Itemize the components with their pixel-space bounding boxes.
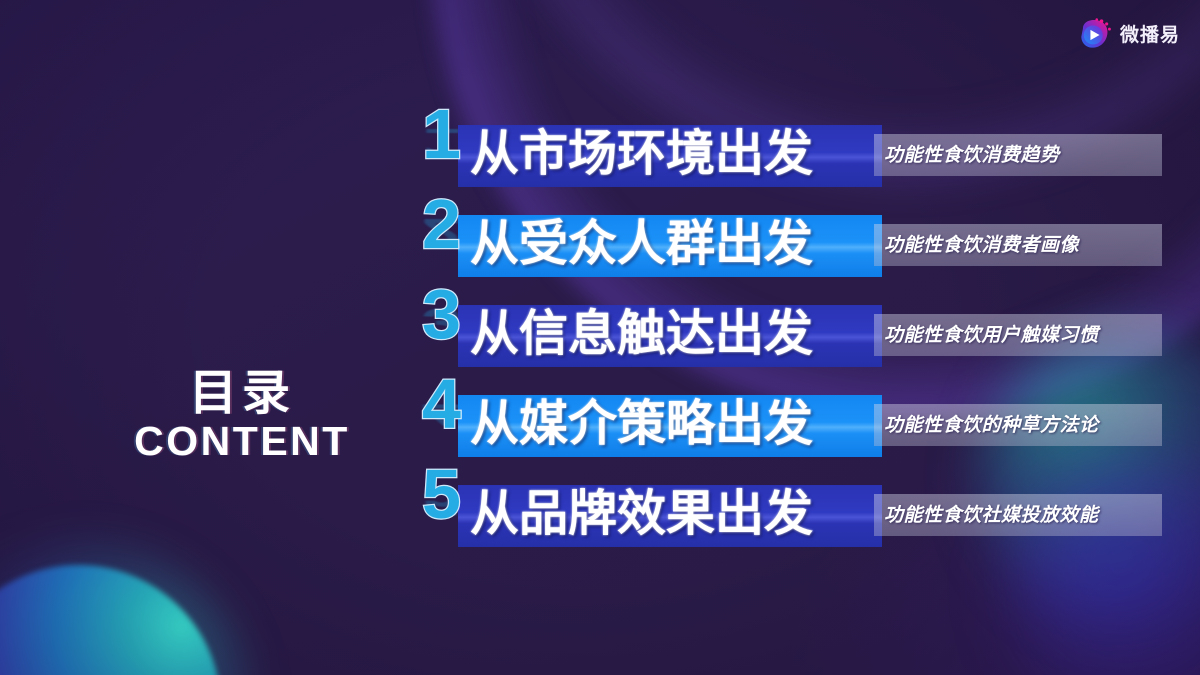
brand-logo: 微播易: [1075, 16, 1180, 54]
list-item[interactable]: 3 3 从信息触达出发 功能性食饮用户触媒习惯: [422, 283, 1162, 373]
item-subtitle: 功能性食饮用户触媒习惯: [884, 314, 1152, 356]
list-item[interactable]: 1 1 从市场环境出发 功能性食饮消费趋势: [422, 103, 1162, 193]
page-title: 目录 CONTENT: [112, 368, 372, 463]
item-title: 从信息触达出发: [470, 302, 813, 364]
list-item[interactable]: 5 5 从品牌效果出发 功能性食饮社媒投放效能: [422, 463, 1162, 553]
page-title-cn: 目录: [112, 368, 372, 418]
list-item[interactable]: 4 4 从媒介策略出发 功能性食饮的种草方法论: [422, 373, 1162, 463]
item-subtitle: 功能性食饮社媒投放效能: [884, 494, 1152, 536]
list-item[interactable]: 2 2 从受众人群出发 功能性食饮消费者画像: [422, 193, 1162, 283]
brand-logo-text: 微播易: [1120, 26, 1180, 45]
item-subtitle: 功能性食饮消费趋势: [884, 134, 1152, 176]
contents-list: 1 1 从市场环境出发 功能性食饮消费趋势 2 2 从受众人群出发 功能性食饮消…: [422, 103, 1162, 553]
item-title: 从品牌效果出发: [470, 482, 813, 544]
play-button-icon: [1075, 16, 1113, 54]
presentation-slide: 微播易 目录 CONTENT 1 1 从市场环境出发 功能性食饮消费趋势 2 2…: [0, 0, 1200, 675]
item-title: 从媒介策略出发: [470, 392, 813, 454]
item-title: 从市场环境出发: [470, 122, 813, 184]
item-subtitle: 功能性食饮的种草方法论: [884, 404, 1152, 446]
item-subtitle: 功能性食饮消费者画像: [884, 224, 1152, 266]
page-title-en: CONTENT: [112, 420, 372, 463]
item-title: 从受众人群出发: [470, 212, 813, 274]
